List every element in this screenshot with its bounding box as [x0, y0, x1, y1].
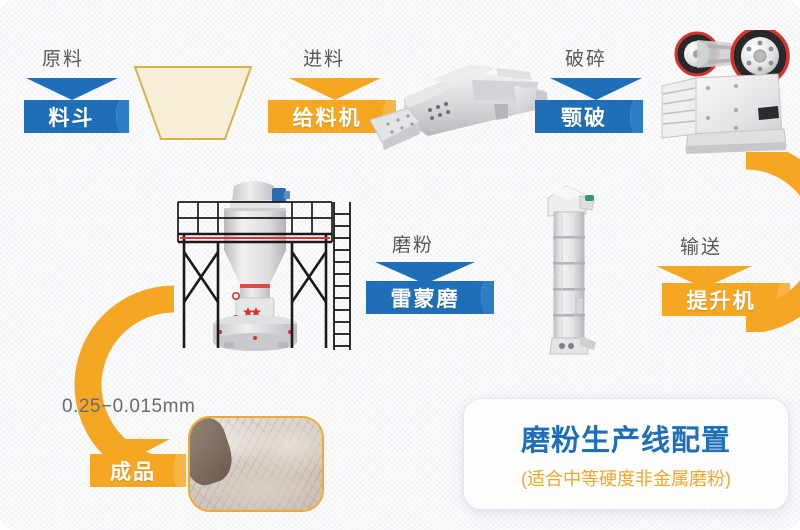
stage-caption-grinding: 磨粉 — [392, 230, 434, 257]
title-card: 磨粉生产线配置 (适合中等硬度非金属磨粉) — [463, 398, 789, 510]
stage-banner-raw-material[interactable]: 料斗 — [24, 100, 129, 133]
flowchart-canvas: 原料 料斗 进料 给料机 — [0, 0, 800, 530]
title-card-sub: (适合中等硬度非金属磨粉) — [521, 465, 731, 491]
equipment-hopper-trapezoid — [133, 64, 253, 142]
product-photo-image — [190, 418, 322, 510]
stage-banner-label-grinding: 雷蒙磨 — [391, 283, 470, 313]
stage-banner-finished-product[interactable]: 成品 — [90, 454, 186, 487]
stage-caption-raw-material: 原料 — [42, 44, 84, 71]
equipment-bucket-elevator — [540, 182, 610, 357]
stage-banner-label-conveying: 提升机 — [687, 285, 766, 315]
stage-caption-feeding: 进料 — [303, 44, 345, 71]
title-card-main: 磨粉生产线配置 — [521, 417, 731, 459]
stage-banner-label-feeding: 给料机 — [293, 102, 372, 132]
product-photo — [188, 416, 324, 512]
stage-banner-grinding[interactable]: 雷蒙磨 — [366, 281, 494, 314]
stage-banner-crushing[interactable]: 颚破 — [535, 100, 643, 133]
product-photo-shadow — [188, 416, 238, 490]
stage-banner-label-finished-product: 成品 — [110, 456, 166, 486]
stage-banner-label-raw-material: 料斗 — [49, 102, 105, 132]
equipment-jaw-crusher — [660, 30, 800, 158]
equipment-vibrating-feeder — [368, 58, 548, 150]
equipment-raymond-mill — [168, 172, 358, 352]
stage-banner-label-crushing: 颚破 — [561, 102, 617, 132]
product-size-text: 0.25−0.015mm — [62, 396, 195, 418]
stage-caption-crushing: 破碎 — [565, 44, 607, 71]
